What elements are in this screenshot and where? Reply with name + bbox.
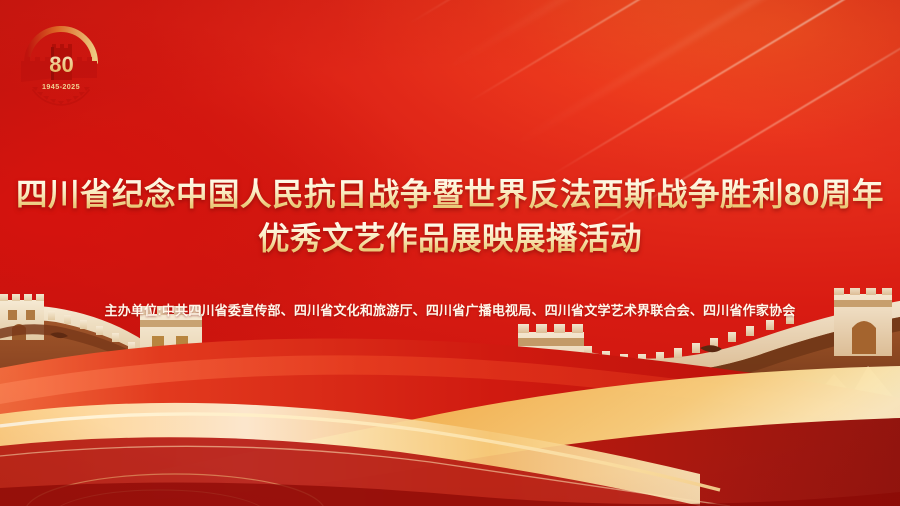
poster-vignette: [0, 0, 900, 506]
commemorative-poster: 80 1945-2025: [0, 0, 900, 506]
